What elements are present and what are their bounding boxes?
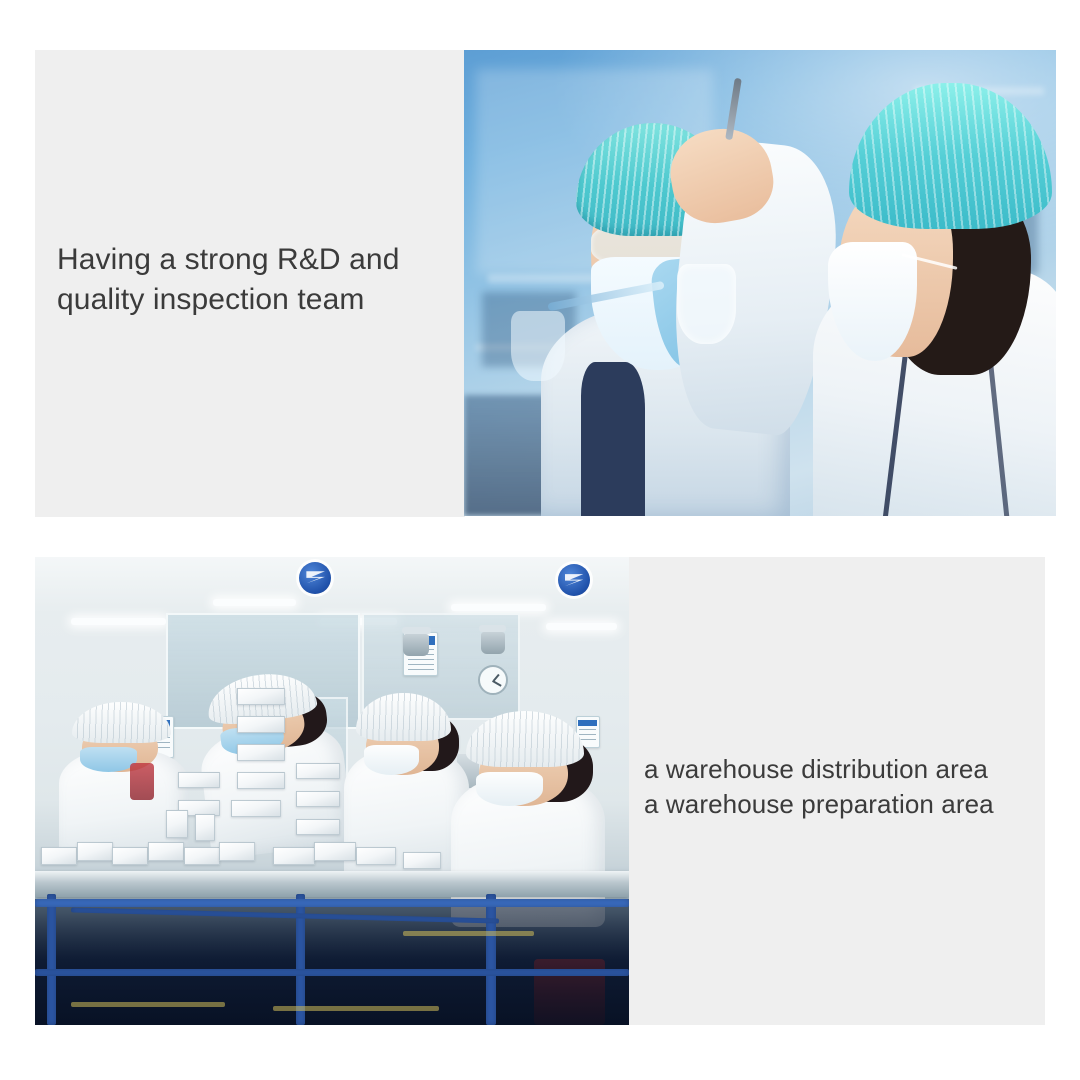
face-mask (80, 747, 137, 772)
box (403, 852, 441, 869)
blue-circular-sign-icon (299, 562, 331, 594)
box (273, 847, 315, 865)
top-caption-text: Having a strong R&D and quality inspecti… (57, 240, 457, 320)
floor-marking (273, 1006, 439, 1011)
box (178, 772, 220, 788)
box (112, 847, 148, 865)
box (237, 744, 285, 761)
bottom-caption-text: a warehouse distribution area a warehous… (644, 752, 1044, 822)
laboratory-photo (464, 50, 1056, 516)
red-garment-small (130, 763, 154, 800)
table-rail-upper (35, 899, 629, 907)
table-leg (486, 894, 496, 1025)
table-rail-lower (35, 969, 629, 976)
hair-net (356, 693, 451, 742)
steel-pot (403, 634, 429, 656)
table-leg (47, 894, 56, 1025)
inner-uniform (581, 362, 646, 516)
warehouse-photo (35, 557, 629, 1025)
stainless-table-top (35, 871, 629, 897)
box (184, 847, 220, 865)
hair-net (72, 702, 171, 743)
steel-pot (481, 632, 505, 654)
bottle-box (195, 814, 215, 841)
face-mask (476, 772, 544, 806)
box (296, 819, 340, 835)
ceiling-light (451, 604, 546, 611)
box (237, 772, 285, 789)
wall-clock-icon (478, 665, 508, 695)
box (41, 847, 77, 865)
lab-technician-right (807, 83, 1056, 516)
ceiling-light (546, 623, 617, 630)
floor-marking (403, 931, 534, 936)
box (296, 763, 340, 779)
glass-flask (677, 264, 736, 343)
box (237, 688, 285, 705)
box (296, 791, 340, 807)
surgical-cap (849, 83, 1052, 229)
ceiling-light (71, 618, 166, 625)
face-mask (364, 745, 419, 775)
bottle-box (166, 810, 188, 838)
box (148, 842, 184, 861)
box (356, 847, 396, 865)
box (237, 716, 285, 733)
ceiling-light (213, 599, 296, 606)
hair-net (466, 711, 583, 767)
box (314, 842, 356, 861)
box (219, 842, 255, 861)
box (77, 842, 113, 861)
blue-circular-sign-icon (558, 564, 590, 596)
glass-flask-small (511, 311, 564, 381)
floor-marking (71, 1002, 225, 1007)
page-root: Having a strong R&D and quality inspecti… (0, 0, 1080, 1080)
box (231, 800, 281, 817)
